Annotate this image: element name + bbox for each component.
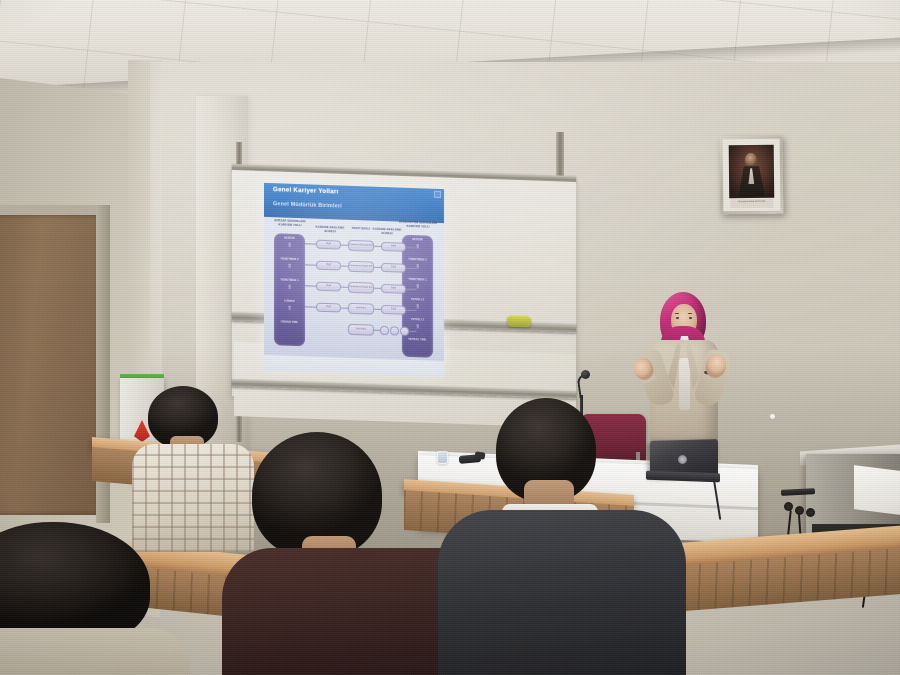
framed-portrait: Mustafa Kemal ATATÜRK bbox=[720, 136, 784, 215]
row-0-method: Yöneticinin Kararıyla Terfi bbox=[348, 240, 374, 252]
connector bbox=[341, 245, 348, 246]
connector bbox=[374, 267, 381, 268]
row-1-method: Performansa Dayalı Terfi bbox=[348, 261, 374, 273]
slide-surface: Genel Kariyer Yolları Genel Müdürlük Bir… bbox=[264, 183, 444, 361]
connector bbox=[341, 308, 348, 309]
connector bbox=[341, 266, 348, 267]
row-2-method: Performansa Dayalı Terfi bbox=[348, 282, 374, 294]
slide-body: İNTİSAP SERVİSLERİ KARİYER YOLU KADEME B… bbox=[264, 217, 444, 361]
portrait-mat: Mustafa Kemal ATATÜRK bbox=[723, 139, 781, 212]
col-header-wait-2: KADEME BEKLEME SÜRESİ bbox=[370, 228, 404, 236]
row-3-method: Terfi Sınavı bbox=[348, 303, 374, 315]
projected-slide: Genel Kariyer Yolları Genel Müdürlük Bir… bbox=[264, 183, 444, 361]
row-0-wait-2: 3 yıl bbox=[381, 242, 406, 252]
col-header-left-lane: İNTİSAP SERVİSLERİ KARİYER YOLU bbox=[268, 219, 312, 228]
row-1-wait-1: 3 yıl bbox=[316, 261, 341, 271]
window-restore-icon[interactable] bbox=[434, 191, 441, 198]
eyebrow-right bbox=[688, 313, 692, 314]
whiteboard-highlight bbox=[770, 414, 775, 419]
student-suit-torso bbox=[438, 510, 686, 675]
power-plug[interactable] bbox=[806, 508, 815, 517]
portrait-image bbox=[729, 145, 775, 198]
eye-left bbox=[676, 317, 679, 319]
row-2-wait-1: 3 yıl bbox=[316, 282, 341, 292]
microphone-capsule-icon bbox=[581, 370, 590, 379]
eye-right bbox=[689, 317, 692, 319]
classroom-photo: Süre : 3 Yıl Süre : 2 Yıl Süre : Sınav G… bbox=[0, 0, 900, 675]
portrait-head bbox=[745, 153, 757, 167]
connector bbox=[409, 331, 415, 332]
slide-subtitle: Genel Müdürlük Birimleri bbox=[273, 201, 342, 209]
student-foreground-left bbox=[0, 522, 190, 675]
connector bbox=[305, 243, 316, 244]
eyebrow-left bbox=[675, 313, 679, 314]
portrait-caption-plate: Mustafa Kemal ATATÜRK bbox=[730, 199, 773, 208]
connector bbox=[374, 309, 381, 310]
slide-title: Genel Kariyer Yolları bbox=[273, 186, 339, 195]
connector bbox=[305, 264, 316, 265]
connector bbox=[341, 287, 348, 288]
connector bbox=[374, 246, 381, 247]
board-eraser[interactable] bbox=[507, 316, 531, 328]
student-dark-suit bbox=[444, 398, 674, 675]
col-header-wait-1: KADEME BEKLEME SÜRESİ bbox=[312, 226, 348, 235]
row-4-method: Terfi Sınavı bbox=[348, 324, 374, 336]
portrait-caption: Mustafa Kemal ATATÜRK bbox=[730, 200, 773, 204]
row-4-sub-a bbox=[380, 326, 389, 335]
room-door[interactable] bbox=[0, 215, 102, 515]
row-0-wait-1: 3 yıl bbox=[316, 240, 341, 250]
connector bbox=[305, 285, 316, 286]
row-2-wait-2: 3 yıl bbox=[381, 284, 406, 294]
connector bbox=[305, 306, 316, 307]
row-3-wait-2: 2 yıl bbox=[381, 305, 406, 315]
row-3-wait-1: 2 yıl bbox=[316, 303, 341, 313]
row-1-wait-2: 3 yıl bbox=[381, 263, 406, 273]
row-4-sub-b bbox=[390, 326, 399, 335]
student-shirt-torso bbox=[0, 628, 190, 675]
side-whiteboard bbox=[854, 465, 900, 515]
blazer-opening bbox=[679, 358, 690, 410]
laptop-logo-icon bbox=[678, 455, 687, 464]
row-4-sub-c bbox=[400, 327, 409, 336]
connector bbox=[374, 288, 381, 289]
